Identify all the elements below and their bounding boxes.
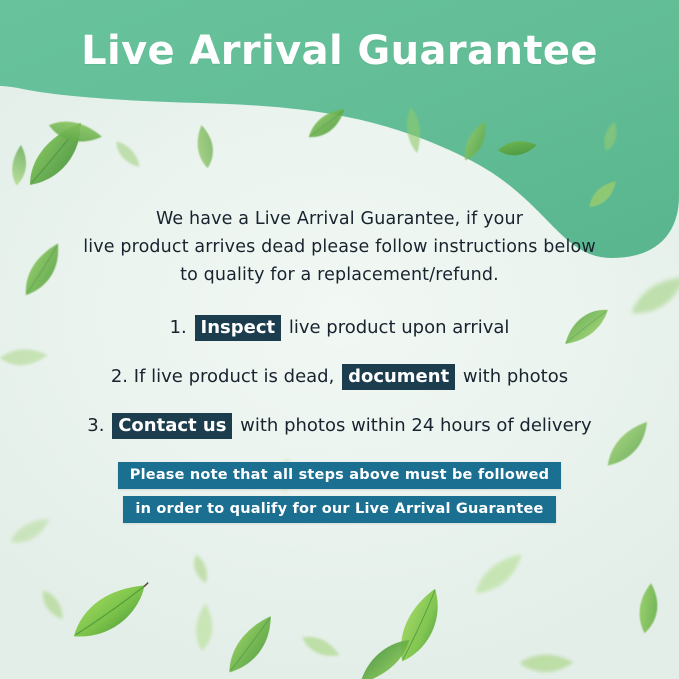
step-number-3: 3.	[87, 415, 104, 436]
step-highlight-document: document	[342, 364, 455, 390]
leaf-icon	[39, 587, 65, 624]
intro-line-3: to quality for a replacement/refund.	[0, 261, 679, 289]
leaf-icon	[189, 124, 223, 171]
leaf-icon	[303, 107, 352, 143]
page-title: Live Arrival Guarantee	[0, 28, 679, 74]
leaf-icon	[64, 582, 158, 647]
notice-banner: Please note that all steps above must be…	[0, 462, 679, 523]
step-text-2-before: If live product is dead,	[134, 366, 335, 387]
step-item-1: 1. Inspect live product upon arrival	[0, 315, 679, 341]
leaf-icon	[44, 106, 104, 160]
notice-line-1: Please note that all steps above must be…	[118, 462, 561, 489]
step-item-2: 2. If live product is dead, document wit…	[0, 364, 679, 390]
leaf-icon	[624, 581, 673, 637]
step-text-2-after: with photos	[463, 366, 568, 387]
notice-line-2: in order to qualify for our Live Arrival…	[123, 496, 555, 523]
leaf-icon	[112, 135, 141, 173]
leaf-icon	[1, 143, 39, 189]
intro-line-1: We have a Live Arrival Guarantee, if you…	[0, 205, 679, 233]
live-arrival-guarantee-poster: Live Arrival Guarantee	[0, 0, 679, 679]
leaf-icon	[377, 585, 464, 670]
leaf-icon	[496, 133, 538, 164]
leaf-icon	[349, 634, 420, 679]
step-number-1: 1.	[170, 317, 187, 338]
leaf-icon	[190, 553, 211, 584]
leaf-icon	[213, 614, 288, 678]
step-highlight-contact-us: Contact us	[112, 413, 232, 439]
leaf-icon	[594, 120, 627, 155]
leaf-icon	[399, 106, 427, 155]
steps-list: 1. Inspect live product upon arrival 2. …	[0, 315, 679, 439]
leaf-icon	[452, 119, 500, 164]
step-text-3: with photos within 24 hours of delivery	[240, 415, 592, 436]
step-item-3: 3. Contact us with photos within 24 hour…	[0, 413, 679, 439]
step-text-1: live product upon arrival	[289, 317, 510, 338]
leaf-icon	[12, 119, 102, 194]
intro-line-2: live product arrives dead please follow …	[0, 233, 679, 261]
intro-paragraph: We have a Live Arrival Guarantee, if you…	[0, 205, 679, 289]
content-area: We have a Live Arrival Guarantee, if you…	[0, 205, 679, 523]
step-number-2: 2.	[111, 366, 128, 387]
leaf-icon	[183, 602, 228, 655]
step-highlight-inspect: Inspect	[195, 315, 282, 341]
leaf-icon	[467, 552, 531, 598]
leaf-icon	[517, 641, 576, 679]
leaf-icon	[298, 625, 341, 669]
